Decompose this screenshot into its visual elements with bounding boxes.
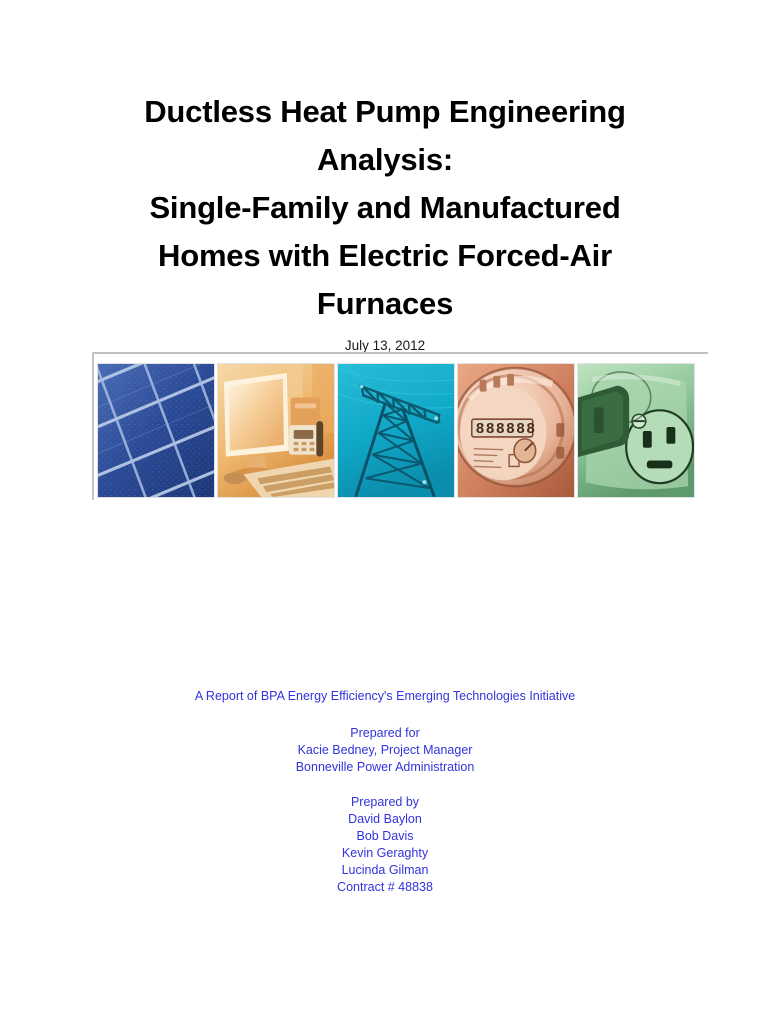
project-manager-line: Kacie Bedney, Project Manager: [85, 742, 685, 759]
computer-monitor-icon: [218, 364, 334, 497]
solar-panel-photo: [97, 363, 215, 498]
prepared-for-label: Prepared for: [85, 725, 685, 742]
electric-meter-icon: 888888: [458, 364, 574, 497]
author-line-3: Kevin Geraghty: [85, 845, 685, 862]
strip-top-rule: [92, 352, 708, 354]
image-row: 888888: [97, 363, 708, 500]
page-title: Ductless Heat Pump Engineering Analysis:…: [85, 88, 685, 328]
transmission-tower-icon: [338, 364, 454, 497]
organization-line: Bonneville Power Administration: [85, 759, 685, 776]
prepared-by-label: Prepared by: [85, 794, 685, 811]
title-block: Ductless Heat Pump Engineering Analysis:…: [85, 88, 685, 354]
author-line-2: Bob Davis: [85, 828, 685, 845]
cover-image-strip: 888888: [88, 352, 708, 512]
title-line-2: Analysis:: [85, 136, 685, 184]
title-line-5: Furnaces: [85, 280, 685, 328]
title-line-3: Single-Family and Manufactured: [85, 184, 685, 232]
transmission-tower-photo: [337, 363, 455, 498]
spacer-1: [85, 705, 685, 725]
author-line-1: David Baylon: [85, 811, 685, 828]
title-line-4: Homes with Electric Forced-Air: [85, 232, 685, 280]
contract-number-line: Contract # 48838: [85, 879, 685, 896]
spacer-2: [85, 776, 685, 794]
computer-workstation-photo: [217, 363, 335, 498]
credits-block: A Report of BPA Energy Efficiency's Emer…: [85, 688, 685, 896]
electric-meter-photo: 888888: [457, 363, 575, 498]
initiative-line: A Report of BPA Energy Efficiency's Emer…: [85, 688, 685, 705]
solar-panel-icon: [98, 364, 214, 497]
author-line-4: Lucinda Gilman: [85, 862, 685, 879]
strip-left-rule: [92, 352, 94, 500]
title-line-1: Ductless Heat Pump Engineering: [85, 88, 685, 136]
power-outlet-icon: [578, 364, 694, 497]
power-outlet-photo: [577, 363, 695, 498]
meter-readout-text: 888888: [476, 422, 537, 438]
